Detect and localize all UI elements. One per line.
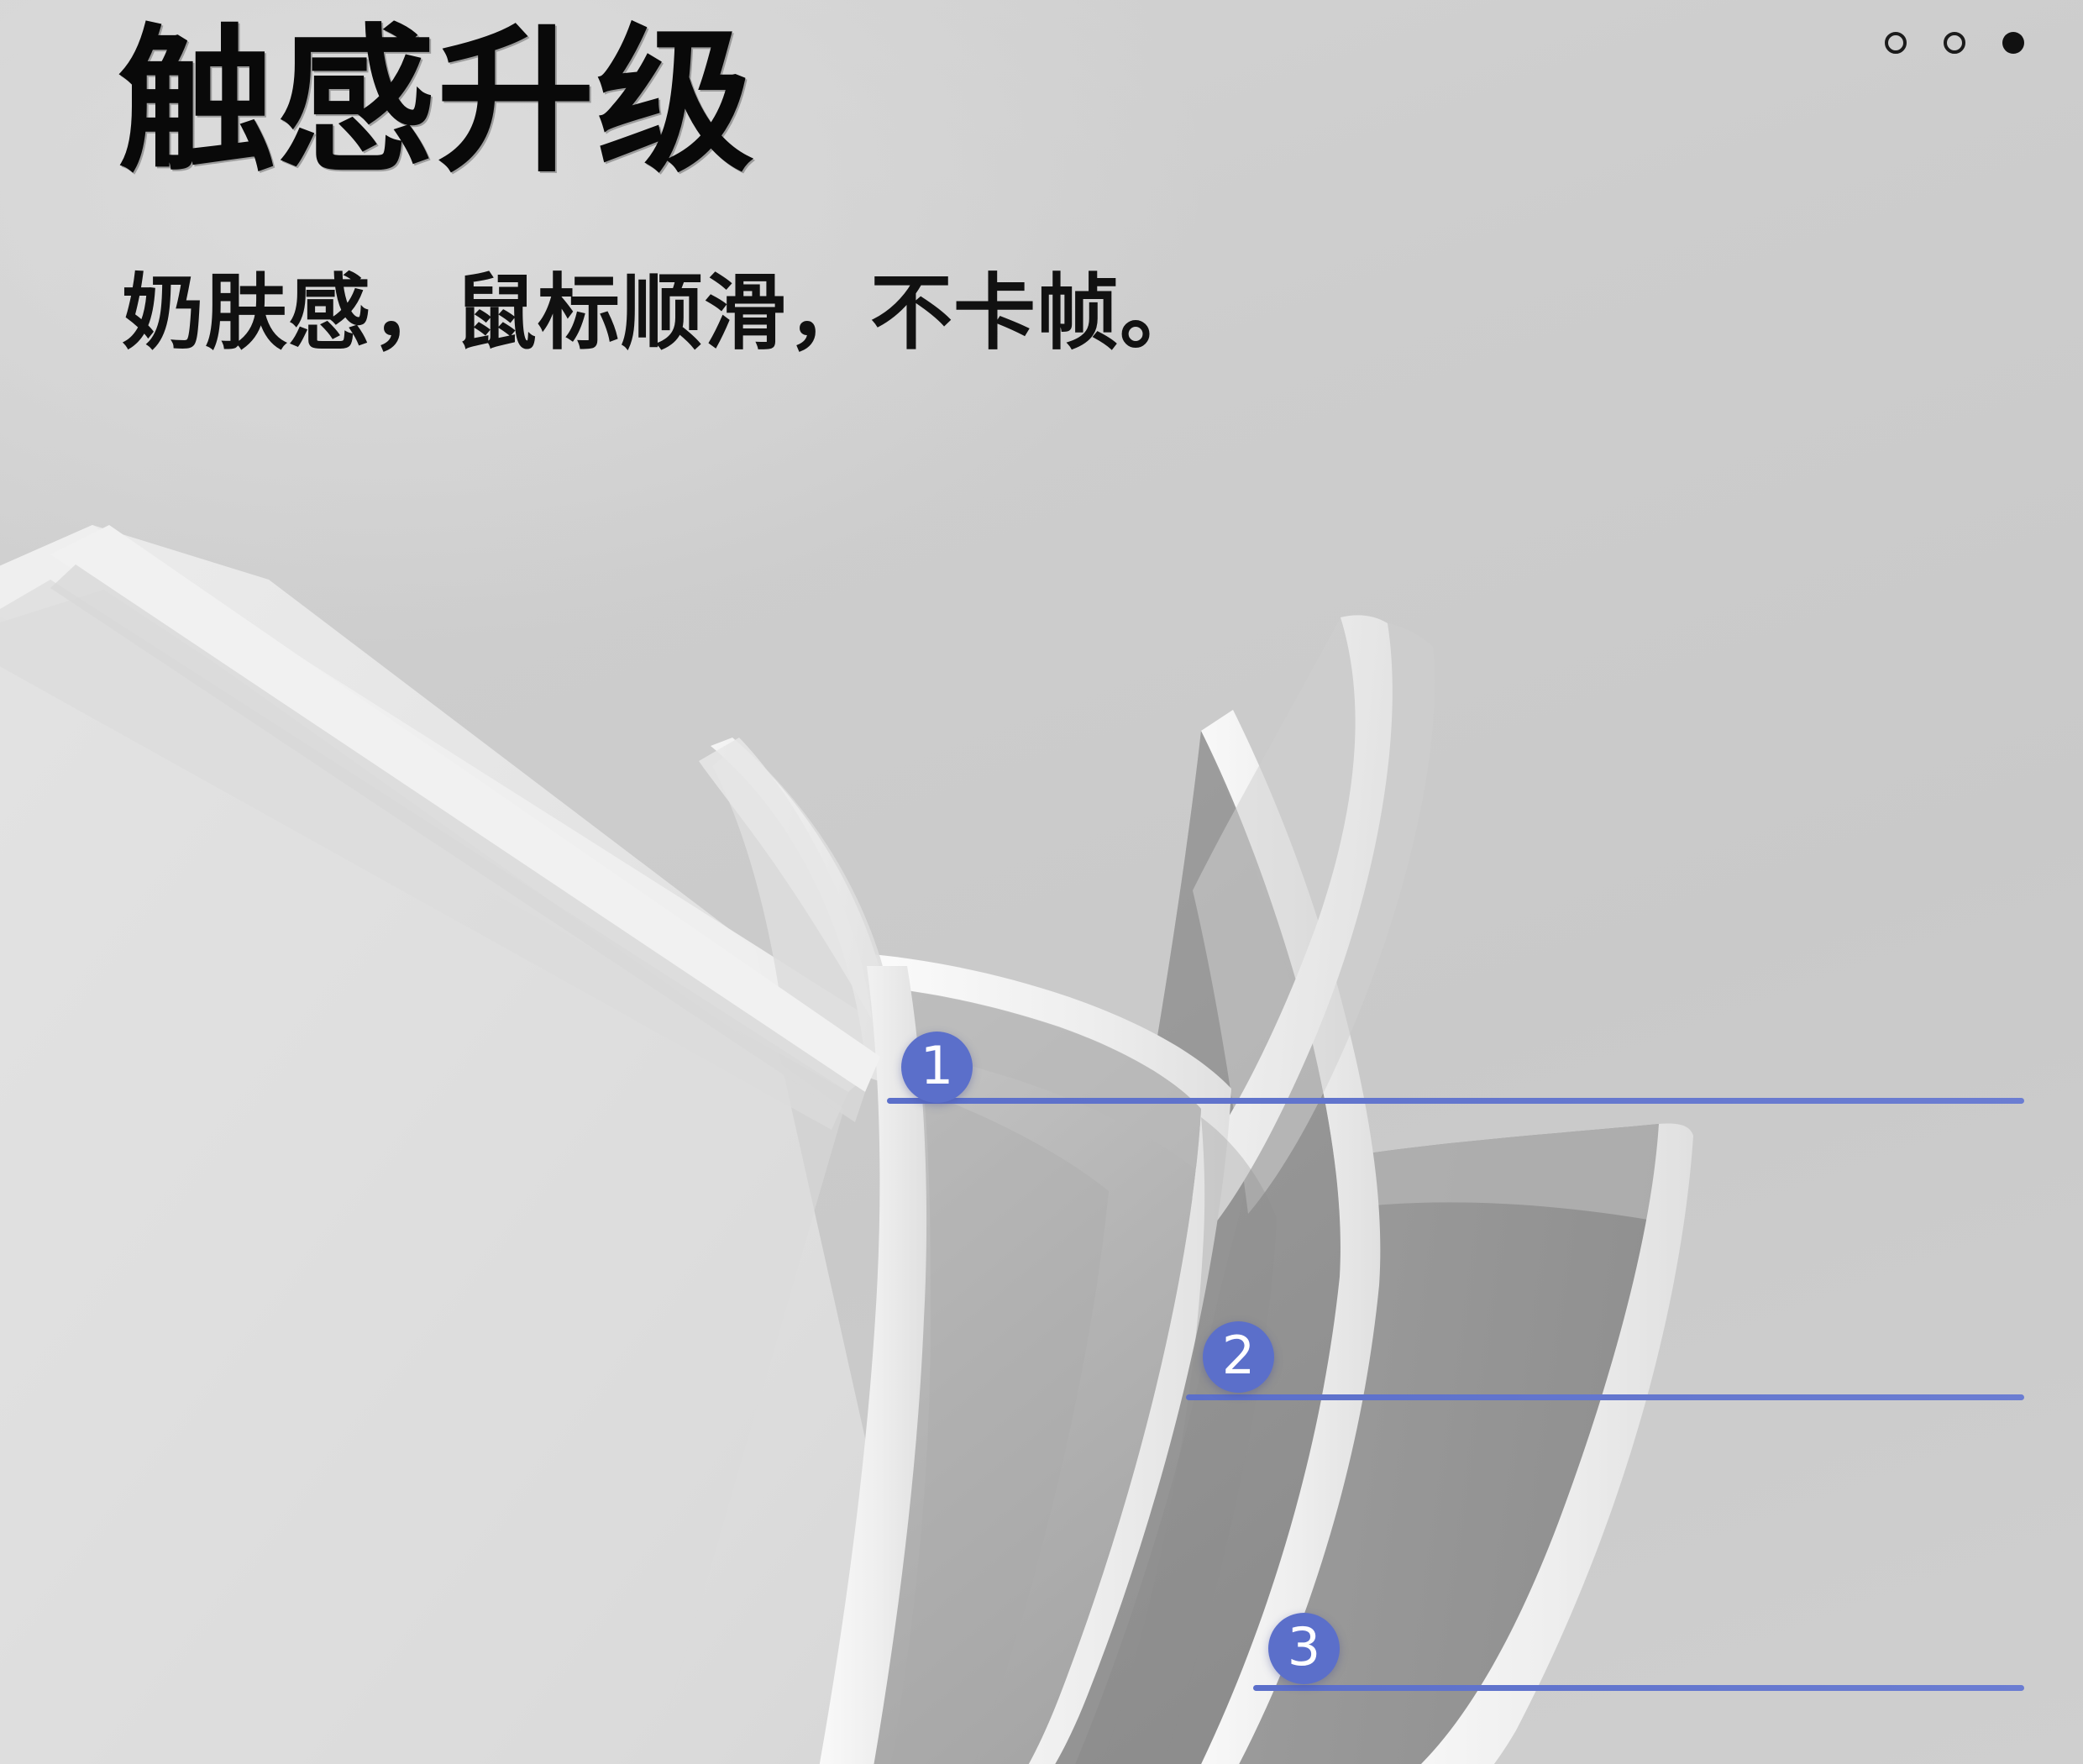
callout-1-rule	[887, 1098, 2024, 1104]
mousepad-layer-peel-illustration	[0, 0, 2083, 1764]
callout-1-badge[interactable]: 1	[901, 1032, 973, 1103]
pagination-dots[interactable]	[1885, 32, 2024, 54]
callout-2-badge[interactable]: 2	[1203, 1321, 1274, 1393]
page-dot-3[interactable]	[2002, 32, 2024, 54]
page-title: 触感升级	[118, 18, 756, 186]
page-dot-2[interactable]	[1944, 32, 1965, 54]
callout-3-rule	[1253, 1685, 2024, 1691]
callout-2-rule	[1186, 1394, 2024, 1400]
callout-3-badge[interactable]: 3	[1268, 1613, 1340, 1684]
page-dot-1[interactable]	[1885, 32, 1907, 54]
page-subtitle: 奶肤感，鼠标顺滑，不卡帧。	[122, 269, 1203, 360]
